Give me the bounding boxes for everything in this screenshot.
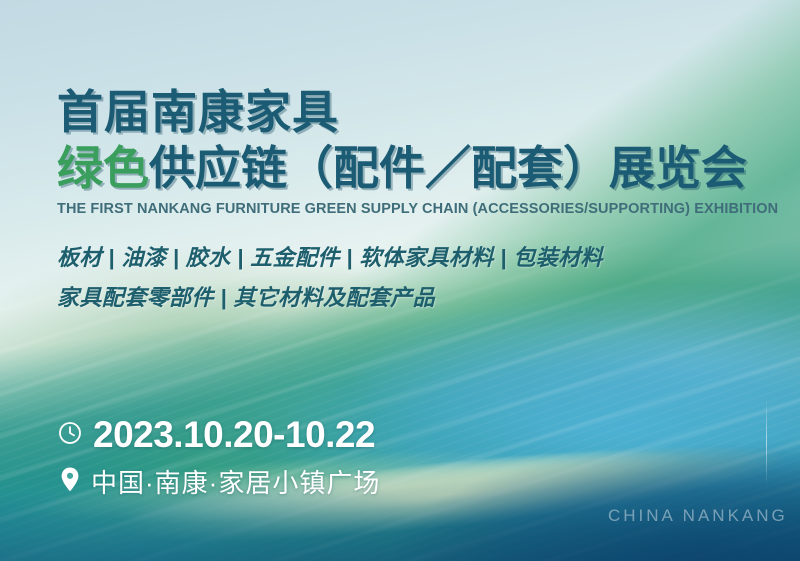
- category-line-2: 家具配套零部件 | 其它材料及配套产品: [57, 280, 435, 312]
- venue-row: 中国·南康·家居小镇广场: [59, 463, 380, 500]
- headline-green-text: 绿色: [57, 142, 149, 194]
- location-pin-icon: [59, 466, 81, 498]
- date-row: 2023.10.20-10.22: [57, 414, 375, 456]
- headline-block: 首届南康家具 绿色供应链（配件／配套）展览会: [57, 84, 777, 196]
- clock-icon: [57, 420, 83, 451]
- english-subtitle: THE FIRST NANKANG FURNITURE GREEN SUPPLY…: [57, 201, 778, 217]
- category-line-1: 板材 | 油漆 | 胶水 | 五金配件 | 软体家具材料 | 包装材料: [57, 240, 603, 272]
- watermark-text: CHINA NANKANG: [608, 506, 788, 526]
- exhibition-date: 2023.10.20-10.22: [93, 414, 375, 456]
- poster-content: 首届南康家具 绿色供应链（配件／配套）展览会 THE FIRST NANKANG…: [0, 0, 800, 561]
- headline-line-1: 首届南康家具: [57, 84, 777, 140]
- exhibition-venue: 中国·南康·家居小镇广场: [91, 463, 380, 500]
- headline-rest-text: 供应链（配件／配套）展览会: [149, 142, 747, 194]
- exhibition-poster: 首届南康家具 绿色供应链（配件／配套）展览会 THE FIRST NANKANG…: [0, 0, 800, 561]
- headline-line-2: 绿色供应链（配件／配套）展览会: [57, 140, 777, 196]
